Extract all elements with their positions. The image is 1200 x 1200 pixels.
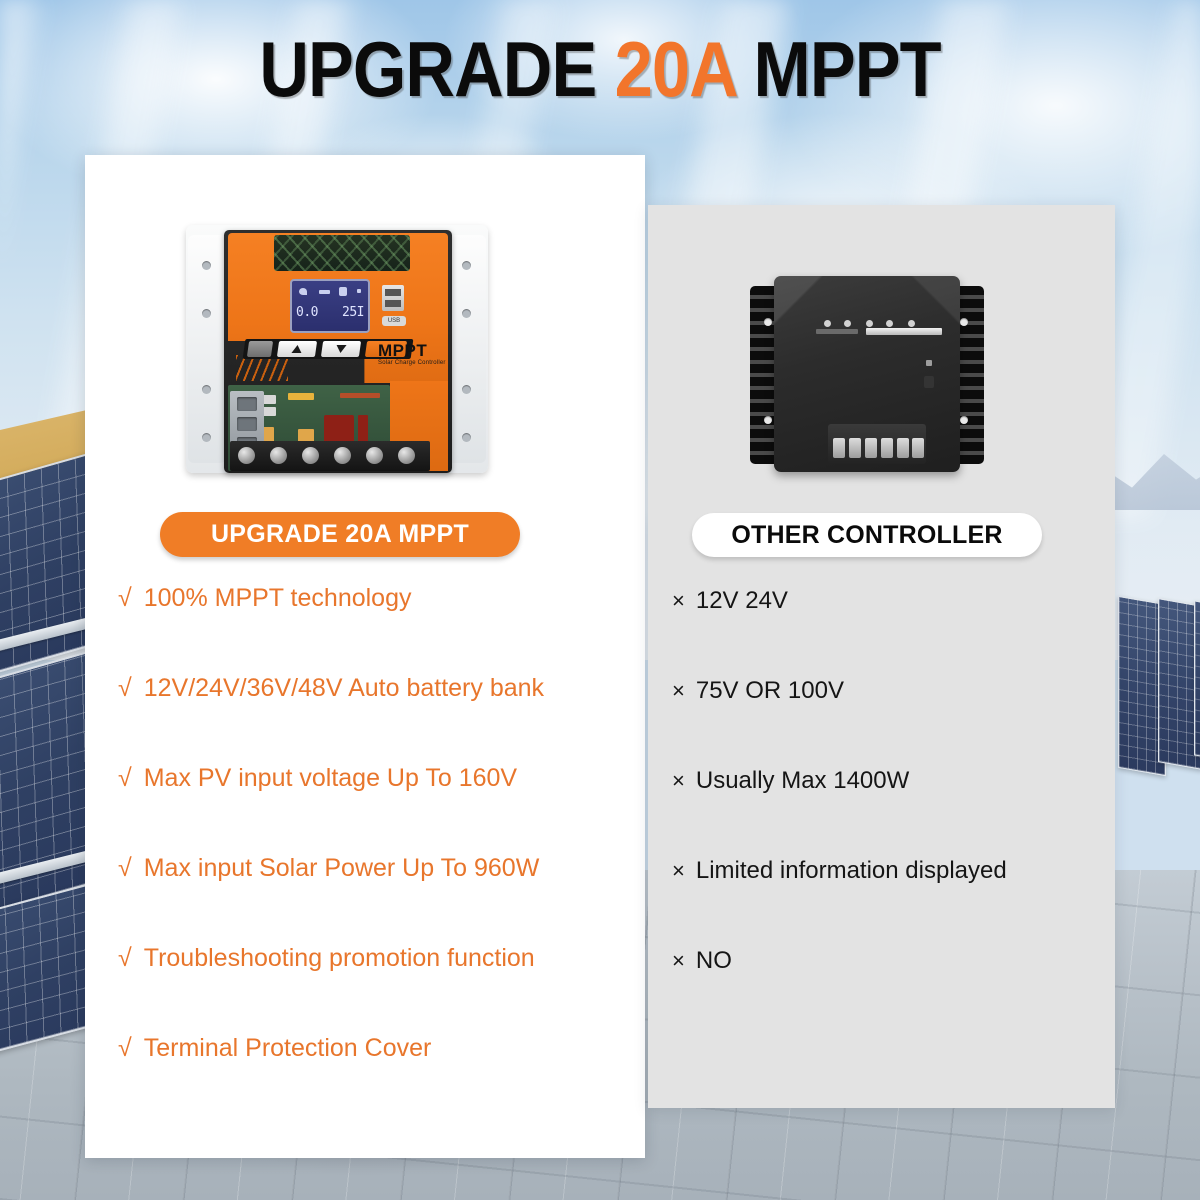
mppt-controller-image: 0.0 25I USB MPPT Solar Charge Controller (186, 213, 488, 485)
mppt-mount-wing-right (448, 235, 486, 463)
lcd-status-icons (297, 285, 363, 298)
other-controller-image (748, 276, 986, 472)
other-feature-list: ×12V 24V×75V OR 100V×Usually Max 1400W×L… (672, 588, 1112, 1038)
drawback-item-label: NO (696, 948, 732, 974)
lcd-value-left: 0.0 (296, 305, 318, 320)
feature-item: √Troubleshooting promotion function (118, 945, 638, 1035)
mppt-down-button (321, 341, 361, 357)
other-led-5 (908, 320, 915, 327)
check-icon: √ (118, 675, 132, 703)
mppt-usb-ports (382, 285, 404, 311)
other-led-label-2 (836, 329, 858, 334)
feature-item: √Max PV input voltage Up To 160V (118, 765, 638, 855)
drawback-item-label: 12V 24V (696, 588, 788, 614)
check-icon: √ (118, 855, 132, 883)
check-icon: √ (118, 585, 132, 613)
title-part-1: UPGRADE (259, 25, 614, 113)
feature-item-label: Max PV input voltage Up To 160V (144, 765, 517, 793)
cross-icon: × (672, 679, 685, 703)
feature-item-label: Max input Solar Power Up To 960W (144, 855, 540, 883)
other-led-2 (844, 320, 851, 327)
drawback-item-label: Limited information displayed (696, 858, 1007, 884)
cross-icon: × (672, 589, 685, 613)
other-led-label-1 (816, 329, 838, 334)
check-icon: √ (118, 765, 132, 793)
feature-item: √Max input Solar Power Up To 960W (118, 855, 638, 945)
drawback-item: ×Limited information displayed (672, 858, 1112, 948)
feature-item-label: 100% MPPT technology (144, 585, 412, 613)
feature-item: √12V/24V/36V/48V Auto battery bank (118, 675, 638, 765)
mppt-menu-button (247, 341, 273, 357)
drawback-item: ×75V OR 100V (672, 678, 1112, 768)
other-small-button (926, 360, 932, 366)
other-led-4 (886, 320, 893, 327)
feature-item-label: Terminal Protection Cover (144, 1035, 432, 1063)
mppt-up-button (277, 341, 317, 357)
lcd-readouts: 0.0 25I (296, 305, 364, 320)
check-icon: √ (118, 1035, 132, 1063)
mppt-brand-label: MPPT (378, 341, 427, 361)
other-screw-tl (764, 318, 772, 326)
drawback-item: ×NO (672, 948, 1112, 1038)
cross-icon: × (672, 769, 685, 793)
feature-item: √Terminal Protection Cover (118, 1035, 638, 1125)
check-icon: √ (118, 945, 132, 973)
other-led-1 (824, 320, 831, 327)
cross-icon: × (672, 949, 685, 973)
other-led-3 (866, 320, 873, 327)
feature-item-label: 12V/24V/36V/48V Auto battery bank (144, 675, 544, 703)
other-terminal-block (828, 424, 926, 464)
mppt-terminal-block (230, 441, 430, 471)
drawback-item: ×12V 24V (672, 588, 1112, 678)
upgrade-badge: UPGRADE 20A MPPT (160, 512, 520, 557)
drawback-item: ×Usually Max 1400W (672, 768, 1112, 858)
other-screw-tr (960, 318, 968, 326)
title-part-2: MPPT (735, 25, 940, 113)
lcd-value-right: 25I (342, 305, 364, 320)
mppt-usb-label: USB (382, 316, 406, 326)
mppt-mount-wing-left (188, 235, 226, 463)
mppt-lcd-display: 0.0 25I (290, 279, 370, 333)
mppt-sub-label: Solar Charge Controller (378, 360, 446, 366)
other-screw-bl (764, 416, 772, 424)
page-title: UPGRADE 20A MPPT (72, 30, 1128, 108)
drawback-item-label: 75V OR 100V (696, 678, 844, 704)
title-highlight: 20A (615, 25, 736, 113)
other-indicator-bar (866, 328, 942, 335)
drawback-item-label: Usually Max 1400W (696, 768, 909, 794)
other-screw-br (960, 416, 968, 424)
solar-panel-right-3 (1194, 600, 1200, 763)
feature-item-label: Troubleshooting promotion function (144, 945, 535, 973)
mppt-top-vent-grille (274, 235, 410, 271)
cross-icon: × (672, 859, 685, 883)
feature-item: √100% MPPT technology (118, 585, 638, 675)
upgrade-feature-list: √100% MPPT technology√12V/24V/36V/48V Au… (118, 585, 638, 1125)
other-controller-badge: OTHER CONTROLLER (692, 513, 1042, 557)
other-connector-socket (924, 376, 934, 388)
